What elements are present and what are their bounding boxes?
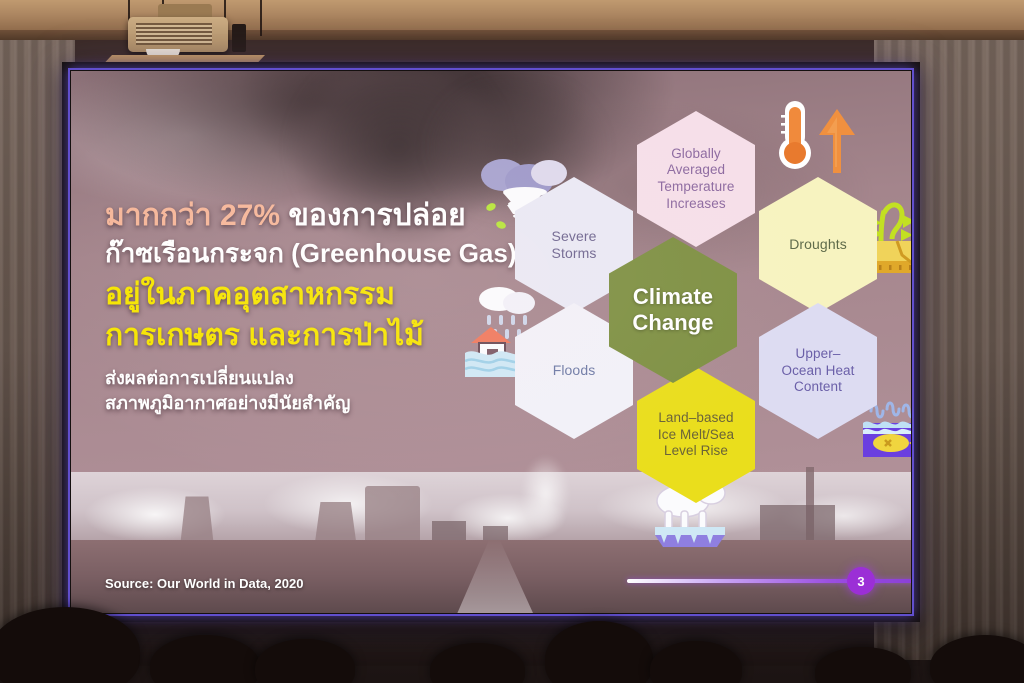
projector — [128, 17, 228, 52]
projector-vents — [136, 23, 212, 45]
center-line1: Climate — [633, 284, 713, 309]
cooling-tower — [365, 486, 420, 546]
thermometer-up-arrow-icon — [769, 99, 863, 177]
audience-head — [815, 647, 911, 683]
hex-label: SevereStorms — [544, 228, 605, 263]
hex-center-label: Climate Change — [624, 284, 721, 336]
climate-change-hex-diagram: SevereStorms GloballyAveragedTemperature… — [463, 89, 883, 549]
projector-cable-box — [232, 24, 246, 52]
audience-silhouettes — [0, 605, 1024, 683]
page-number-badge: 3 — [847, 567, 875, 595]
audience-head — [255, 639, 355, 683]
source-citation: Source: Our World in Data, 2020 — [105, 576, 303, 591]
projection-screen-frame: มากกว่า 27% ของการปล่อย ก๊าซเรือนกระจก (… — [62, 62, 920, 622]
audience-head — [545, 621, 653, 683]
hex-node-globally-averaged-temperature-increases[interactable]: GloballyAveragedTemperatureIncreases — [637, 111, 755, 247]
center-line2: Change — [632, 310, 713, 335]
hex-label: GloballyAveragedTemperatureIncreases — [650, 146, 743, 213]
hex-label: Floods — [545, 362, 604, 379]
cooling-tower — [315, 502, 357, 545]
presentation-slide: มากกว่า 27% ของการปล่อย ก๊าซเรือนกระจก (… — [71, 71, 911, 613]
audience-head — [0, 607, 140, 683]
conference-room-scene: มากกว่า 27% ของการปล่อย ก๊าซเรือนกระจก (… — [0, 0, 1024, 683]
cooling-tower — [180, 496, 214, 545]
audience-head — [430, 643, 525, 683]
headline-line1-rest: ของการปล่อย — [280, 199, 466, 232]
hex-label: Land–basedIce Melt/SeaLevel Rise — [650, 410, 742, 460]
audience-head — [150, 635, 260, 683]
audience-head — [650, 641, 742, 683]
headline-highlight: มากกว่า 27% — [105, 199, 280, 232]
hex-label: Upper–Ocean HeatContent — [773, 346, 862, 396]
hex-label: Droughts — [781, 236, 855, 253]
audience-head — [930, 635, 1024, 683]
